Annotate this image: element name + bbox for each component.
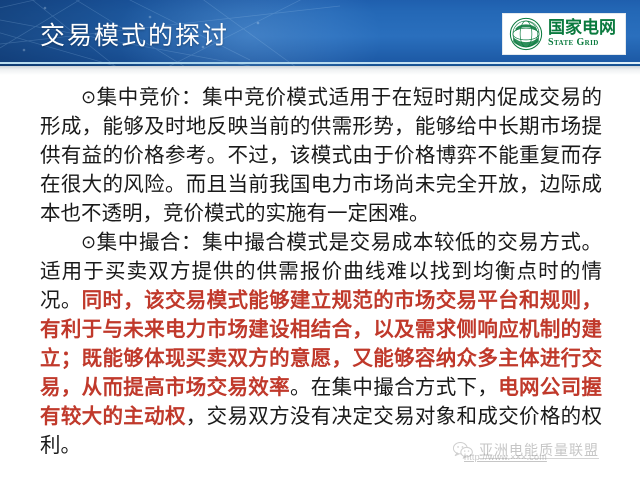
watermark-url: http://www.×××.com <box>464 452 547 462</box>
slide-title: 交易模式的探讨 <box>40 20 229 52</box>
state-grid-globe-emblem <box>507 16 545 52</box>
paragraph-centralized-bidding: ⊙集中竞价：集中竞价模式适用于在短时期内促成交易的形成，能够及时地反映当前的供需… <box>40 83 602 228</box>
logo-english-name: State Grid <box>548 37 616 49</box>
logo-chinese-name: 国家电网 <box>548 19 616 37</box>
slide-body-text: ⊙集中竞价：集中竞价模式适用于在短时期内促成交易的形成，能够及时地反映当前的供需… <box>40 83 602 460</box>
paragraph-2-run-3: 。在集中撮合方式下， <box>290 375 498 399</box>
header-bottom-accent-line <box>0 62 640 64</box>
paragraph-2-term: 集中撮合 <box>96 230 181 254</box>
paragraph-1-colon: ： <box>181 85 202 109</box>
presentation-slide: 交易模式的探讨 国家电网 State Grid ⊙集中竞价：集中竞价模式适用于在… <box>0 0 640 480</box>
slide-header-band: 交易模式的探讨 国家电网 State Grid <box>0 0 640 66</box>
state-grid-logo: 国家电网 State Grid <box>502 13 626 55</box>
bullet-icon: ⊙ <box>81 87 96 108</box>
paragraph-2-colon: ： <box>181 230 202 254</box>
paragraph-1-term: 集中竞价 <box>96 85 181 109</box>
state-grid-wordmark: 国家电网 State Grid <box>548 19 616 49</box>
header-drop-shadow <box>0 66 640 75</box>
bullet-icon: ⊙ <box>81 232 96 253</box>
paragraph-centralized-matching: ⊙集中撮合：集中撮合模式是交易成本较低的交易方式。适用于买卖双方提供的供需报价曲… <box>40 228 602 460</box>
